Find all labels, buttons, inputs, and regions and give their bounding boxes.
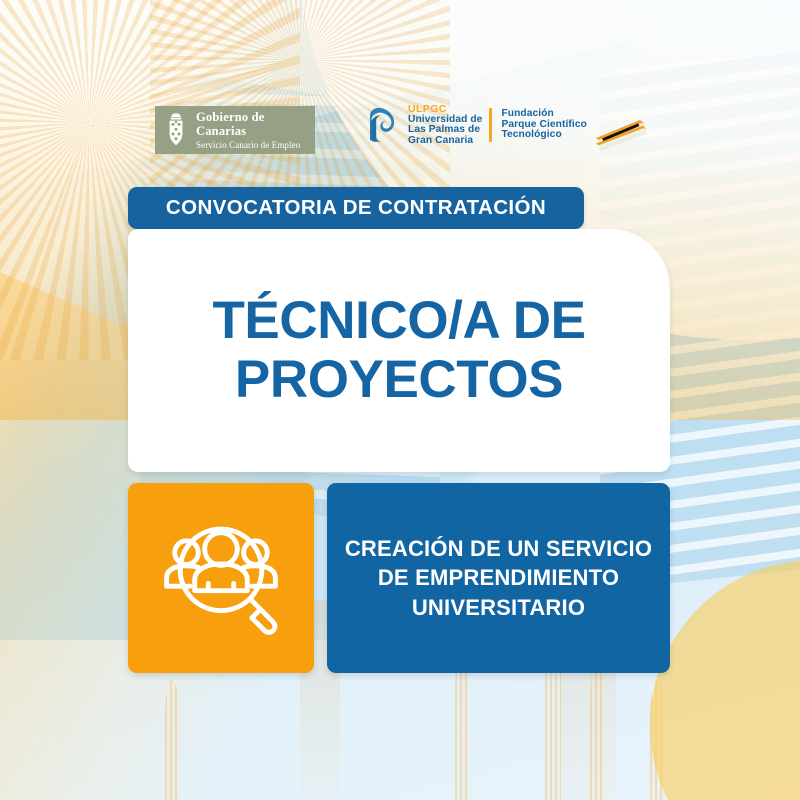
logo-ulpgc-fpct: ULPGC Universidad de Las Palmas de Gran … [368, 104, 587, 146]
gov-logo-name: Gobierno de Canarias [196, 110, 307, 138]
title-card: TÉCNICO/A DE PROYECTOS [128, 229, 670, 472]
poster: P Gobierno de C [0, 0, 800, 800]
banner-label: CONVOCATORIA DE CONTRATACIÓN [166, 196, 546, 220]
canary-islands-coat-of-arms-icon [163, 111, 189, 149]
page-title: TÉCNICO/A DE PROYECTOS [128, 292, 670, 409]
people-magnifier-icon [153, 514, 289, 642]
subtitle-card: CREACIÓN DE UN SERVICIO DE EMPRENDIMIENT… [327, 483, 670, 673]
fanned-pages-logo-icon [592, 116, 662, 152]
icon-card [128, 483, 314, 673]
ulpgc-wave-icon [368, 107, 402, 143]
subtitle-text: CREACIÓN DE UN SERVICIO DE EMPRENDIMIENT… [327, 534, 670, 622]
logo-divider [489, 108, 492, 142]
convocatoria-banner: CONVOCATORIA DE CONTRATACIÓN [128, 187, 584, 229]
gov-logo-sub: Servicio Canario de Empleo [196, 139, 307, 151]
background-agave-5 [165, 680, 179, 800]
background-agave-2 [590, 660, 604, 800]
logo-gobierno-de-canarias: Gobierno de Canarias Servicio Canario de… [155, 106, 315, 154]
ulpgc-line-3: Gran Canaria [408, 136, 482, 146]
logo-bar: Gobierno de Canarias Servicio Canario de… [0, 48, 800, 112]
ulpgc-line-2: Las Palmas de [408, 125, 482, 135]
fpct-line-3: Tecnológico [501, 130, 586, 140]
